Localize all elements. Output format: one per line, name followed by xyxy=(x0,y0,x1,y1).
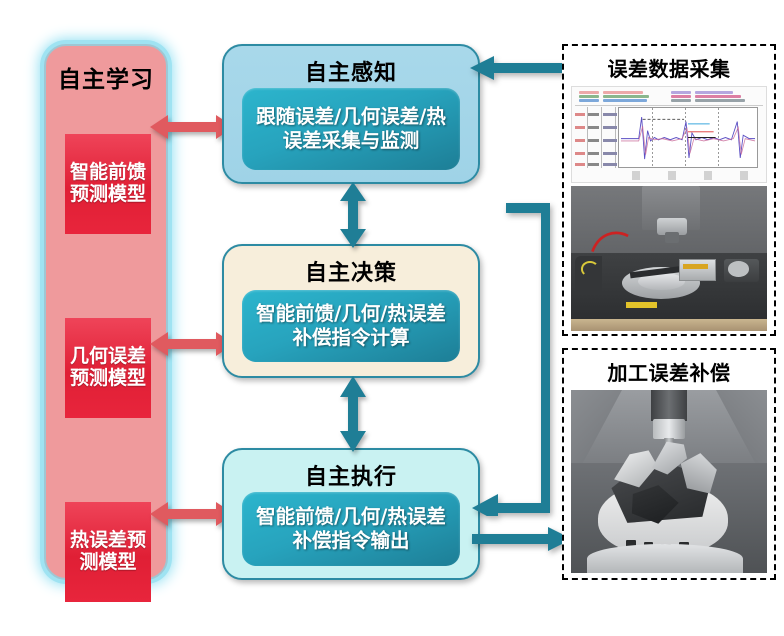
error-data-acquisition-panel: 误差数据采集 xyxy=(562,44,776,336)
architecture-diagram: 自主学习 智能前馈预测模型 几何误差预测模型 热误差预测模型 自主感知 跟随误差… xyxy=(0,0,784,636)
machining-error-compensation-title: 加工误差补偿 xyxy=(564,350,774,391)
autonomous-perception-box: 自主感知 跟随误差/几何误差/热误差采集与监测 xyxy=(222,44,480,184)
intelligent-feedforward-prediction-model: 智能前馈预测模型 xyxy=(65,134,151,234)
thermal-error-prediction-model: 热误差预测模型 xyxy=(65,502,151,602)
geometric-error-prediction-model: 几何误差预测模型 xyxy=(65,318,151,418)
chart-legend xyxy=(575,89,763,106)
chart-plot-area xyxy=(618,107,758,168)
autonomous-perception-title: 自主感知 xyxy=(224,55,478,87)
autonomous-learning-title: 自主学习 xyxy=(46,60,166,94)
impeller-five-axis-machining-image xyxy=(571,390,767,573)
five-axis-machine-rotary-table-image xyxy=(571,186,767,331)
error-measurement-chart-image xyxy=(571,86,767,183)
machining-error-compensation-panel: 加工误差补偿 xyxy=(562,348,776,580)
decision-execution-link xyxy=(336,376,370,452)
autonomous-execution-box: 自主执行 智能前馈/几何/热误差补偿指令输出 xyxy=(222,448,480,580)
autonomous-decision-title: 自主决策 xyxy=(224,255,478,287)
autonomous-decision-detail: 智能前馈/几何/热误差补偿指令计算 xyxy=(242,290,460,362)
perception-decision-link xyxy=(336,182,370,248)
capture-to-perception-arrow xyxy=(470,56,568,80)
autonomous-perception-detail: 跟随误差/几何误差/热误差采集与监测 xyxy=(242,88,460,170)
perception-to-execution-feedback xyxy=(468,104,550,516)
autonomous-execution-detail: 智能前馈/几何/热误差补偿指令输出 xyxy=(242,492,460,566)
execution-to-compensation-arrow xyxy=(472,527,572,551)
chart-x-axis-labels xyxy=(618,171,758,180)
autonomous-execution-title: 自主执行 xyxy=(224,459,478,491)
error-data-acquisition-title: 误差数据采集 xyxy=(564,46,774,87)
chart-data-table xyxy=(575,107,617,168)
autonomous-decision-box: 自主决策 智能前馈/几何/热误差补偿指令计算 xyxy=(222,244,480,378)
